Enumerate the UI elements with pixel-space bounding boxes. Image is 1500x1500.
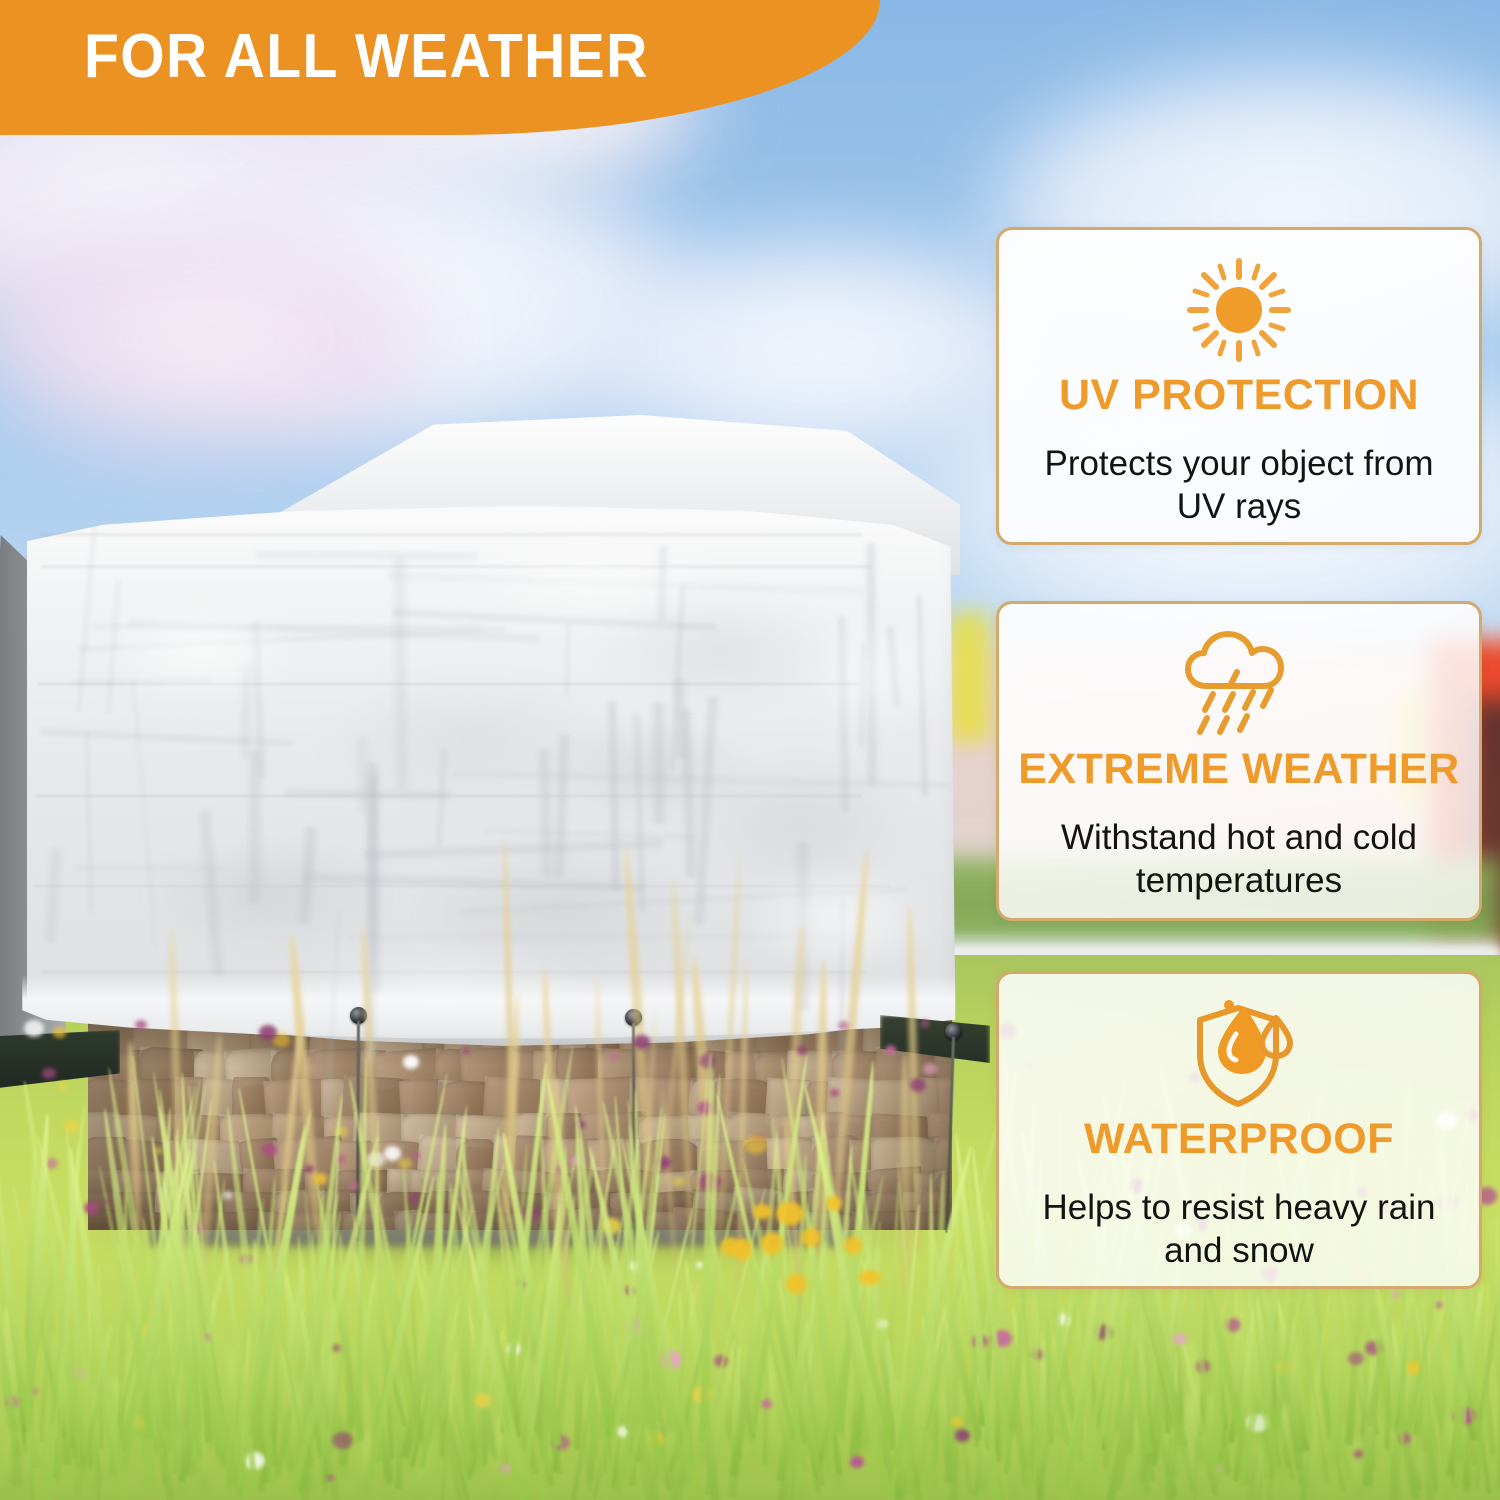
wildflower bbox=[462, 1047, 470, 1054]
tarp-shading bbox=[460, 535, 720, 625]
wildflower bbox=[53, 1027, 65, 1038]
tarp-seam bbox=[40, 533, 862, 536]
wildflower bbox=[259, 1025, 276, 1040]
dandelion bbox=[753, 1204, 772, 1218]
tarp-crease bbox=[255, 548, 478, 561]
feature-card-description: Protects your object from UV rays bbox=[999, 443, 1479, 528]
wildflower bbox=[314, 1173, 328, 1185]
feature-card-title: UV PROTECTION bbox=[999, 374, 1479, 417]
wildflower bbox=[84, 1202, 98, 1214]
wildflower bbox=[332, 1344, 341, 1352]
sun-icon bbox=[999, 250, 1479, 370]
wildflower bbox=[797, 1046, 807, 1055]
wildflower bbox=[951, 1417, 962, 1426]
rain-cloud-icon bbox=[999, 624, 1479, 744]
tarp-seam bbox=[42, 565, 871, 568]
wildflower bbox=[223, 1191, 233, 1200]
wildflower bbox=[696, 1262, 703, 1268]
dandelion bbox=[844, 1237, 862, 1254]
wildflower bbox=[885, 1045, 896, 1055]
feature-card-description: Withstand hot and cold temperatures bbox=[999, 817, 1479, 902]
feature-card-list: UV PROTECTION Protects your object from … bbox=[996, 227, 1482, 1287]
wildflower bbox=[610, 1053, 618, 1060]
shield-water-drop-icon bbox=[999, 994, 1479, 1114]
wildflower bbox=[398, 1158, 412, 1170]
dandelion bbox=[786, 1274, 807, 1293]
wildflower bbox=[745, 1135, 767, 1154]
wildflower bbox=[135, 1020, 147, 1030]
tarp-shading bbox=[800, 615, 950, 735]
feature-card-description: Helps to resist heavy rain and snow bbox=[999, 1187, 1479, 1272]
wildflower bbox=[305, 1165, 314, 1173]
tarp-shading bbox=[540, 715, 760, 825]
wildflower bbox=[42, 1068, 55, 1079]
banner-title: FOR ALL WEATHER bbox=[84, 26, 649, 88]
wildflower bbox=[910, 1078, 927, 1092]
dandelion bbox=[776, 1202, 803, 1225]
wildflower bbox=[673, 1177, 685, 1187]
wildflower bbox=[24, 1020, 44, 1037]
wildflower bbox=[412, 1152, 420, 1159]
feature-card-uv-protection[interactable]: UV PROTECTION Protects your object from … bbox=[996, 227, 1482, 545]
feature-card-waterproof[interactable]: WATERPROOF Helps to resist heavy rain an… bbox=[996, 971, 1482, 1289]
wildflower bbox=[761, 1399, 772, 1408]
wildflower bbox=[58, 1082, 67, 1090]
wildflower bbox=[332, 1432, 352, 1449]
wildflower bbox=[923, 1063, 937, 1075]
wildflower bbox=[830, 1089, 839, 1096]
wildflower bbox=[102, 1199, 109, 1205]
feature-card-title: WATERPROOF bbox=[999, 1118, 1479, 1161]
wildflower bbox=[920, 1019, 931, 1028]
tarp-shading bbox=[100, 595, 300, 705]
wildflower bbox=[633, 1035, 650, 1049]
feature-card-extreme-weather[interactable]: EXTREME WEATHER Withstand hot and cold t… bbox=[996, 601, 1482, 921]
wildflower bbox=[1348, 1352, 1364, 1366]
wildflower bbox=[955, 1429, 970, 1442]
dandelion bbox=[761, 1232, 783, 1254]
wildflower bbox=[348, 1181, 360, 1191]
wildflower bbox=[850, 1456, 864, 1468]
feature-card-title: EXTREME WEATHER bbox=[999, 748, 1479, 791]
wildflower bbox=[1354, 1450, 1363, 1457]
product-feature-image: FOR ALL WEATHER bbox=[0, 0, 1500, 1500]
wildflower bbox=[262, 1143, 278, 1157]
dandelion bbox=[826, 1196, 842, 1211]
dandelion bbox=[801, 1228, 821, 1247]
wildflower bbox=[1391, 1291, 1400, 1299]
wildflower bbox=[403, 1055, 419, 1069]
